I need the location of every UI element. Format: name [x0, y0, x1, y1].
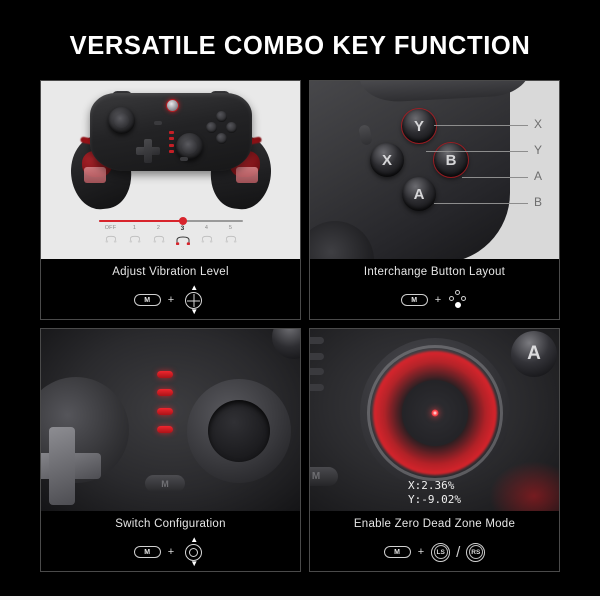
panel-switch-configuration: M Switch Configuration M + ▲ ▼ — [40, 328, 301, 572]
dpad-closeup — [41, 377, 129, 483]
dpad-up-down-icon: ▲ ▼ — [181, 287, 207, 313]
slider-fill — [99, 220, 183, 222]
abxy-buttons-icon — [448, 290, 468, 310]
slider-tick-3[interactable]: 3 — [171, 225, 195, 232]
callout-line-b — [434, 203, 528, 204]
callout-line-y — [426, 151, 528, 152]
vibration-level-slider[interactable]: OFF12345 — [99, 220, 243, 247]
plus-button — [180, 157, 188, 161]
bottom-strip — [0, 596, 600, 600]
slider-knob[interactable] — [179, 217, 187, 225]
panel-3-caption: Switch Configuration — [41, 518, 300, 530]
face-button-a[interactable]: A — [402, 177, 436, 211]
controller-illustration — [68, 91, 274, 211]
stick-position-dot — [431, 410, 438, 417]
panel-2-artwork: Y X B A X Y A B — [310, 81, 559, 259]
callout-label-x: X — [534, 118, 542, 130]
callout-label-a: A — [534, 170, 542, 182]
panel-1-caption-box: Adjust Vibration Level M + ▲ ▼ — [41, 259, 300, 319]
right-stick-icon: RS — [466, 543, 485, 562]
stick-up-down-icon: ▲ ▼ — [181, 539, 207, 565]
callout-label-b: B — [534, 196, 542, 208]
plus-symbol: + — [168, 547, 174, 558]
vibration-icon-4 — [195, 234, 219, 247]
panel-4-caption-box: Enable Zero Dead Zone Mode M + LS / RS — [310, 511, 559, 571]
slider-tick-2[interactable]: 2 — [147, 225, 171, 232]
dpad-vertical — [144, 139, 152, 163]
profile-led-indicators — [310, 337, 324, 391]
panel-1-artwork: OFF12345 — [41, 81, 300, 259]
callout-line-x — [434, 125, 528, 126]
dpad-vertical — [49, 427, 75, 505]
led-indicator — [157, 426, 173, 433]
panel-1-caption: Adjust Vibration Level — [41, 266, 300, 278]
home-button — [166, 99, 179, 112]
vibration-icon-1 — [123, 234, 147, 247]
vibration-icon-row — [99, 234, 243, 247]
m-button-pill: M — [401, 294, 428, 306]
slider-track[interactable] — [99, 220, 243, 222]
face-button-x[interactable]: X — [370, 143, 404, 177]
slider-tick-labels: OFF12345 — [99, 225, 243, 232]
right-analog-stick-closeup — [187, 379, 291, 483]
left-stick-icon: LS — [431, 543, 450, 562]
panel-interchange-button-layout: Y X B A X Y A B Interchange Button Layou… — [309, 80, 560, 320]
panel-2-caption-box: Interchange Button Layout M + — [310, 259, 559, 319]
face-button-y — [216, 111, 227, 122]
readout-x-value: X:2.36% — [408, 479, 461, 493]
slider-tick-5[interactable]: 5 — [219, 225, 243, 232]
m-button[interactable]: M — [310, 467, 338, 486]
arrow-up-icon: ▲ — [190, 537, 198, 543]
panel-3-caption-box: Switch Configuration M + ▲ ▼ — [41, 511, 300, 571]
vibration-icon-2 — [147, 234, 171, 247]
slider-tick-4[interactable]: 4 — [195, 225, 219, 232]
stick-coordinate-readout: X:2.36% Y:-9.02% — [408, 479, 461, 507]
separator-symbol: / — [456, 545, 460, 560]
panel-3-combo-badge: M + ▲ ▼ — [41, 539, 300, 565]
feature-panel-grid: OFF12345 Adjust Vibration Level M + ▲ ▼ — [40, 80, 560, 572]
panel-1-combo-badge: M + ▲ ▼ — [41, 287, 300, 313]
face-button-a — [216, 133, 227, 144]
callout-line-a — [462, 177, 528, 178]
panel-4-combo-badge: M + LS / RS — [310, 539, 559, 565]
readout-y-value: Y:-9.02% — [408, 493, 461, 507]
plus-symbol: + — [168, 295, 174, 306]
led-indicator — [157, 408, 173, 415]
right-stick-label: RS — [469, 545, 483, 559]
marketing-image: VERSATILE COMBO KEY FUNCTION — [0, 0, 600, 600]
vibration-icon-5 — [219, 234, 243, 247]
minus-button — [154, 121, 162, 125]
page-title: VERSATILE COMBO KEY FUNCTION — [0, 0, 600, 60]
right-trigger-pads — [236, 167, 258, 183]
face-button-b — [226, 122, 237, 133]
m-button[interactable]: M — [145, 475, 185, 492]
right-analog-stick — [176, 133, 203, 160]
face-button-b[interactable]: B — [434, 143, 468, 177]
profile-led-indicators — [157, 371, 173, 433]
left-analog-stick — [108, 107, 135, 134]
red-ambient-glow — [489, 461, 559, 511]
vibration-icon-off — [99, 234, 123, 247]
face-button-a-partial — [272, 329, 300, 359]
plus-symbol: + — [418, 547, 424, 558]
face-button-x — [206, 122, 217, 133]
led-indicator-strip — [169, 131, 174, 153]
panel-4-caption: Enable Zero Dead Zone Mode — [310, 518, 559, 530]
led-indicator — [157, 389, 173, 396]
panel-adjust-vibration-level: OFF12345 Adjust Vibration Level M + ▲ ▼ — [40, 80, 301, 320]
face-button-a[interactable]: A — [511, 331, 557, 377]
arrow-down-icon: ▼ — [190, 561, 198, 567]
left-trigger-pads — [84, 167, 106, 183]
panel-4-artwork: A M X:2.36% Y:-9.02% — [310, 329, 559, 511]
arrow-down-icon: ▼ — [190, 309, 198, 315]
face-button-y[interactable]: Y — [402, 109, 436, 143]
slider-tick-1[interactable]: 1 — [123, 225, 147, 232]
vibration-icon-3 — [171, 234, 195, 247]
plus-symbol: + — [435, 295, 441, 306]
panel-3-artwork: M — [41, 329, 300, 511]
slider-tick-off[interactable]: OFF — [99, 225, 123, 232]
panel-2-combo-badge: M + — [310, 287, 559, 313]
arrow-up-icon: ▲ — [190, 285, 198, 291]
m-button-pill: M — [134, 546, 161, 558]
panel-enable-zero-dead-zone-mode: A M X:2.36% Y:-9.02% Enable Zero Dead Zo… — [309, 328, 560, 572]
panel-2-caption: Interchange Button Layout — [310, 266, 559, 278]
m-button-pill: M — [384, 546, 411, 558]
led-indicator — [157, 371, 173, 378]
left-stick-label: LS — [434, 545, 448, 559]
callout-label-y: Y — [534, 144, 542, 156]
m-button-pill: M — [134, 294, 161, 306]
